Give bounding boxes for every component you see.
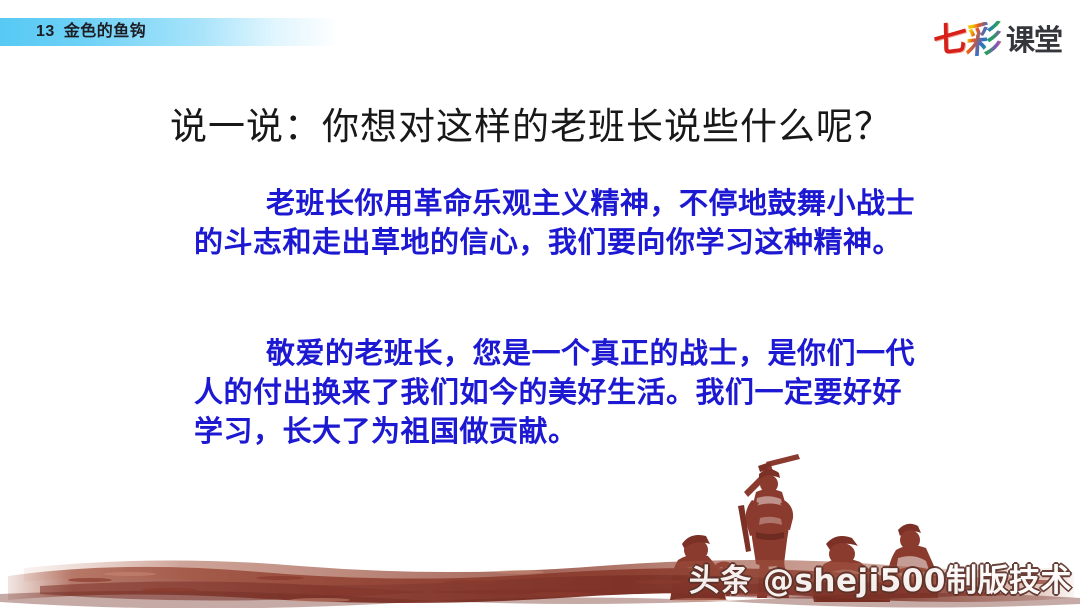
lesson-title: 金色的鱼钩 (64, 23, 147, 40)
lesson-number: 13 (36, 23, 55, 40)
brand-logo: 七 彩 课堂 (933, 20, 1062, 60)
lesson-header: 13金色的鱼钩 (36, 20, 146, 44)
slide-canvas: 13金色的鱼钩 七 彩 课堂 说一说：你想对这样的老班长说些什么呢？ 老班长你用… (0, 0, 1080, 608)
question-prompt: 说一说：你想对这样的老班长说些什么呢？ (170, 96, 892, 150)
answer-paragraph-1: 老班长你用革命乐观主义精神，不停地鼓舞小战士的斗志和走出草地的信心，我们要向你学… (194, 184, 916, 262)
watermark-text: 头条 @sheji500制版技术 (689, 555, 1072, 600)
logo-char-cai: 彩 (965, 20, 1003, 59)
logo-char-qi: 七 (933, 21, 967, 59)
logo-char-ketang: 课堂 (1006, 26, 1062, 55)
answer-paragraph-2: 敬爱的老班长，您是一个真正的战士，是你们一代人的付出换来了我们如今的美好生活。我… (194, 334, 916, 451)
